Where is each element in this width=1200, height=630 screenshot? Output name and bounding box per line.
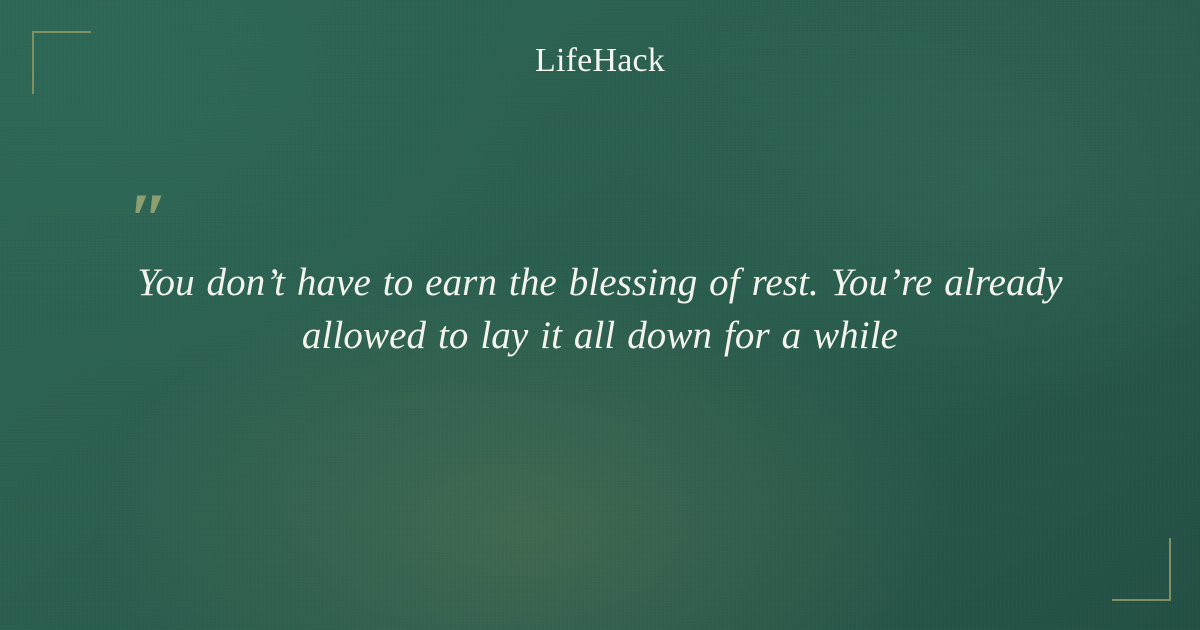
quotation-mark-icon: ″ (128, 190, 1200, 238)
quote-line: allowed to lay it all down for a while (100, 309, 1100, 362)
brand-logo: LifeHack (0, 38, 1200, 84)
quote-card: LifeHack ″ You don’t have to earn the bl… (0, 0, 1200, 630)
quote-block: ″ You don’t have to earn the blessing of… (0, 190, 1200, 362)
corner-bracket-bottom-right-icon (1112, 538, 1171, 601)
quote-line: You don’t have to earn the blessing of r… (100, 256, 1100, 309)
quote-text: You don’t have to earn the blessing of r… (100, 256, 1100, 362)
